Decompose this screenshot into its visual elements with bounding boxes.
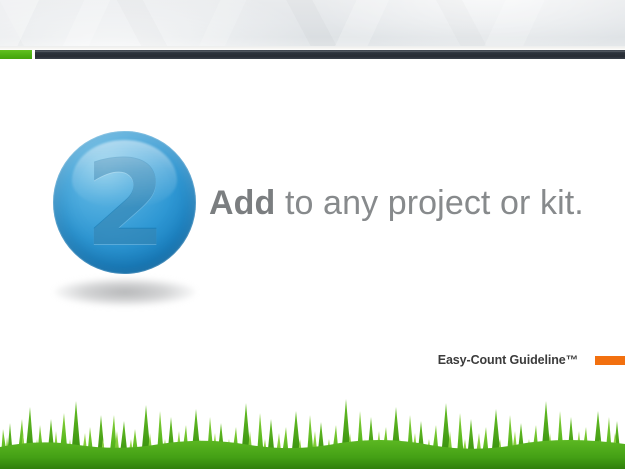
footer-brand-label: Easy-Count Guideline™ [438,353,578,367]
header-band [0,0,625,50]
sphere-drop-shadow [55,278,195,306]
footer-orange-bar [595,356,625,365]
accent-green-block [0,50,32,59]
footer-lockup: Easy-Count Guideline™ [438,353,625,367]
headline-emphasis: Add [209,184,275,222]
grass-decoration [0,389,625,469]
headline-rest: to any project or kit. [275,184,583,222]
header-paper-texture [0,0,625,50]
step-number-sphere: 2 [53,131,196,274]
headline: Add to any project or kit. [209,183,584,223]
slide-canvas: 2 Add to any project or kit. Easy-Count … [0,0,625,469]
step-number-label: 2 [53,131,196,274]
accent-dark-rule [35,50,625,59]
